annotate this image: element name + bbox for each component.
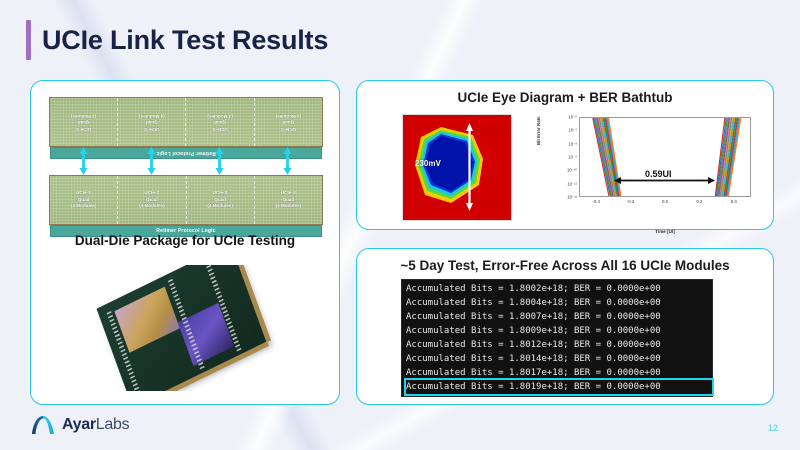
ber-log-line: Accumulated Bits = 1.8002e+18; BER = 0.0…	[406, 282, 712, 296]
quad-label-line3: (4 Modules)	[139, 112, 165, 119]
ber-terminal-output[interactable]: Accumulated Bits = 1.8002e+18; BER = 0.0…	[401, 279, 713, 397]
bathtub-x-tick: 0.0	[662, 199, 668, 204]
eye-diagram-panel: UCIe Eye Diagram + BER Bathtub 230mV Bit…	[356, 80, 774, 230]
ber-bathtub-chart: Bit Error Rate 10⁻⁶10⁻⁷10⁻⁸10⁻⁹10⁻¹⁰10⁻¹…	[535, 105, 761, 223]
bathtub-y-tick: 10⁻⁷	[535, 128, 577, 133]
eye-panel-title: UCIe Eye Diagram + BER Bathtub	[357, 90, 773, 105]
quad-label-line1: UCIe-S	[281, 125, 296, 132]
ber-log-line: Accumulated Bits = 1.8004e+18; BER = 0.0…	[406, 296, 712, 310]
quad-label-line3: (4 Modules)	[71, 112, 97, 119]
eye-measurement-label: 230mV	[415, 159, 441, 168]
quad-label-line2: Quad	[78, 119, 90, 126]
logo-ayar: Ayar	[62, 416, 96, 433]
ucie-quad-block: UCIe-S Quad (4 Modules)	[50, 98, 117, 146]
ber-log-line: Accumulated Bits = 1.8007e+18; BER = 0.0…	[406, 310, 712, 324]
ucie-quad-block: UCIe-S Quad (4 Modules)	[117, 98, 185, 146]
bathtub-y-tick: 10⁻¹¹	[535, 181, 577, 186]
logo-labs: Labs	[96, 416, 130, 433]
ber-log-line: Accumulated Bits = 1.8014e+18; BER = 0.0…	[406, 352, 712, 366]
bidirectional-arrow-icon	[79, 147, 88, 175]
quad-label-line2: Quad	[214, 119, 226, 126]
die-top: Retimer Protocol Logic UCIe-S Quad (4 Mo…	[49, 97, 323, 147]
quad-label-line3: (4 Modules)	[276, 112, 302, 119]
quad-label-line2: Quad	[283, 119, 295, 126]
interconnect-arrows	[49, 147, 323, 175]
photonic-die	[114, 287, 179, 353]
ber-log-panel: ~5 Day Test, Error-Free Across All 16 UC…	[356, 248, 774, 405]
bidirectional-arrow-icon	[215, 147, 224, 175]
quad-label-line1: UCIe-S	[76, 125, 91, 132]
ber-log-line-highlighted: Accumulated Bits = 1.8019e+18; BER = 0.0…	[406, 380, 712, 394]
quad-label-line3: (4 Modules)	[71, 203, 97, 210]
ber-log-line: Accumulated Bits = 1.8017e+18; BER = 0.0…	[406, 366, 712, 380]
package-substrate	[97, 265, 268, 391]
bathtub-y-tick: 10⁻⁶	[535, 115, 577, 120]
title-text: UCIe Link Test Results	[42, 27, 328, 54]
block-diagram: Retimer Protocol Logic UCIe-S Quad (4 Mo…	[49, 97, 323, 225]
quad-label-line3: (4 Modules)	[139, 203, 165, 210]
ayar-labs-logo: AyarLabs	[30, 414, 129, 436]
ucie-quad-block: UCIe-S Quad (4 Modules)	[187, 176, 255, 224]
package-edge	[230, 265, 271, 343]
title-accent-bar	[26, 20, 31, 60]
page-title: UCIe Link Test Results	[26, 20, 328, 60]
ber-log-line: Accumulated Bits = 1.8009e+18; BER = 0.0…	[406, 324, 712, 338]
bidirectional-arrow-icon	[147, 147, 156, 175]
bathtub-x-tick: 0.4	[731, 199, 737, 204]
die-bottom: Retimer Protocol Logic UCIe-S Quad (4 Mo…	[49, 175, 323, 225]
ucie-quad-block: UCIe-S Quad (4 Modules)	[118, 176, 186, 224]
bathtub-y-tick: 10⁻¹⁰	[535, 168, 577, 173]
eye-height-arrow-icon	[465, 123, 474, 211]
bathtub-x-axis-label: Time [UI]	[579, 229, 751, 234]
quad-label-line1: UCIe-S	[144, 190, 159, 197]
bidirectional-arrow-icon	[283, 147, 292, 175]
ucie-quad-block: UCIe-S Quad (4 Modules)	[255, 176, 322, 224]
quad-label-line1: UCIe-S	[281, 190, 296, 197]
quad-label-line1: UCIe-S	[213, 125, 228, 132]
logo-wordmark: AyarLabs	[62, 416, 129, 434]
dual-die-package-panel: Retimer Protocol Logic UCIe-S Quad (4 Mo…	[30, 80, 340, 405]
ayar-labs-logo-icon	[30, 414, 56, 436]
quad-label-line3: (4 Modules)	[207, 203, 233, 210]
quad-label-line1: UCIe-S	[213, 190, 228, 197]
package-photo	[77, 265, 292, 391]
quad-label-line1: UCIe-S	[76, 190, 91, 197]
bathtub-y-tick: 10⁻⁹	[535, 155, 577, 160]
quad-label-line3: (4 Modules)	[276, 203, 302, 210]
bathtub-x-tick: -0.2	[627, 199, 635, 204]
bathtub-plot-area	[579, 117, 751, 197]
quad-label-line3: (4 Modules)	[207, 112, 233, 119]
ber-panel-title: ~5 Day Test, Error-Free Across All 16 UC…	[357, 258, 773, 273]
page-number: 12	[768, 423, 778, 433]
bathtub-y-tick: 10⁻⁸	[535, 141, 577, 146]
quad-label-line2: Quad	[146, 119, 158, 126]
bathtub-y-tick: 10⁻¹²	[535, 195, 577, 200]
dual-die-caption: Dual-Die Package for UCIe Testing	[31, 233, 339, 248]
ucie-quad-block: UCIe-S Quad (4 Modules)	[186, 98, 254, 146]
ber-log-line: Accumulated Bits = 1.8012e+18; BER = 0.0…	[406, 338, 712, 352]
ucie-quad-block: UCIe-S Quad (4 Modules)	[50, 176, 118, 224]
quad-label-line1: UCIe-S	[144, 125, 159, 132]
eye-width-annotation: 0.59UI	[645, 169, 672, 179]
bathtub-x-tick: -0.4	[592, 199, 600, 204]
eye-diagram-plot: 230mV	[402, 114, 512, 221]
bathtub-x-ticks: -0.4-0.20.00.20.4	[579, 197, 751, 207]
bathtub-y-ticks: 10⁻⁶10⁻⁷10⁻⁸10⁻⁹10⁻¹⁰10⁻¹¹10⁻¹²	[535, 105, 579, 223]
ucie-quad-block: UCIe-S Quad (4 Modules)	[254, 98, 322, 146]
bathtub-x-tick: 0.2	[696, 199, 702, 204]
